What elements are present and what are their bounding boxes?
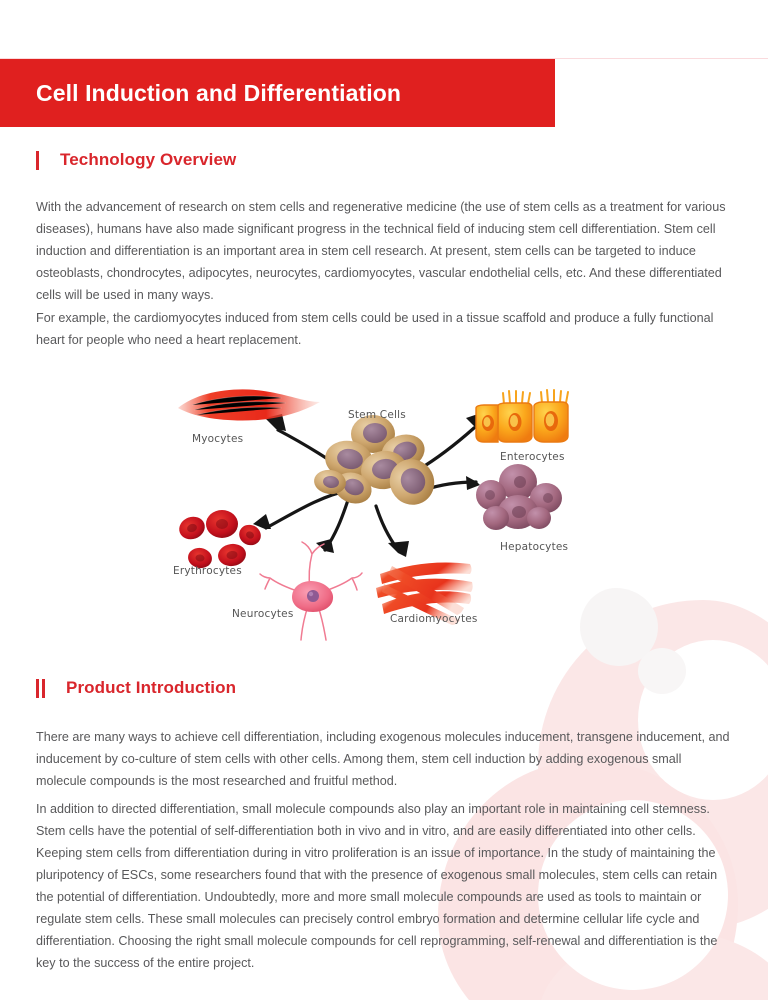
heading-double-bar-icon <box>36 679 45 698</box>
diagram-label-myocytes: Myocytes <box>192 433 243 445</box>
paragraph-technology-2: For example, the cardiomyocytes induced … <box>36 307 730 351</box>
arrowhead-cardiomyocytes <box>388 541 409 557</box>
section-title-product-introduction: Product Introduction <box>66 678 236 698</box>
heading-bar-icon <box>36 151 39 170</box>
section-heading-product-introduction: Product Introduction <box>36 678 236 698</box>
diagram-label-hepatocytes: Hepatocytes <box>500 541 568 553</box>
decorative-blob-grey-small <box>638 648 686 694</box>
page-title: Cell Induction and Differentiation <box>0 80 401 107</box>
diagram-label-stem-cells: Stem Cells <box>348 409 406 421</box>
page-header-banner: Cell Induction and Differentiation <box>0 59 555 127</box>
diagram-label-neurocytes: Neurocytes <box>232 608 294 620</box>
section-heading-technology-overview: Technology Overview <box>36 150 236 170</box>
arrow-path-erythrocytes <box>266 490 350 528</box>
arrow-path-enterocytes <box>418 428 474 470</box>
enterocytes-illustration <box>476 390 568 442</box>
neurocytes-illustration <box>260 542 362 640</box>
stem-cell-cluster-illustration <box>312 415 442 513</box>
paragraph-product-2: In addition to directed differentiation,… <box>36 798 730 974</box>
paragraph-product-1: There are many ways to achieve cell diff… <box>36 726 730 792</box>
diagram-label-erythrocytes: Erythrocytes <box>173 565 242 577</box>
paragraph-technology-1: With the advancement of research on stem… <box>36 196 730 306</box>
cell-differentiation-diagram: Stem Cells Myocytes Erythrocytes Neurocy… <box>170 378 600 642</box>
diagram-label-enterocytes: Enterocytes <box>500 451 565 463</box>
erythrocytes-illustration <box>176 510 264 570</box>
diagram-label-cardiomyocytes: Cardiomyocytes <box>390 613 478 625</box>
arrowhead-neurocytes <box>316 539 334 553</box>
hepatocytes-illustration <box>476 464 562 530</box>
arrowhead-erythrocytes <box>253 514 271 529</box>
section-title-technology-overview: Technology Overview <box>60 150 236 170</box>
myocytes-illustration <box>178 389 320 420</box>
